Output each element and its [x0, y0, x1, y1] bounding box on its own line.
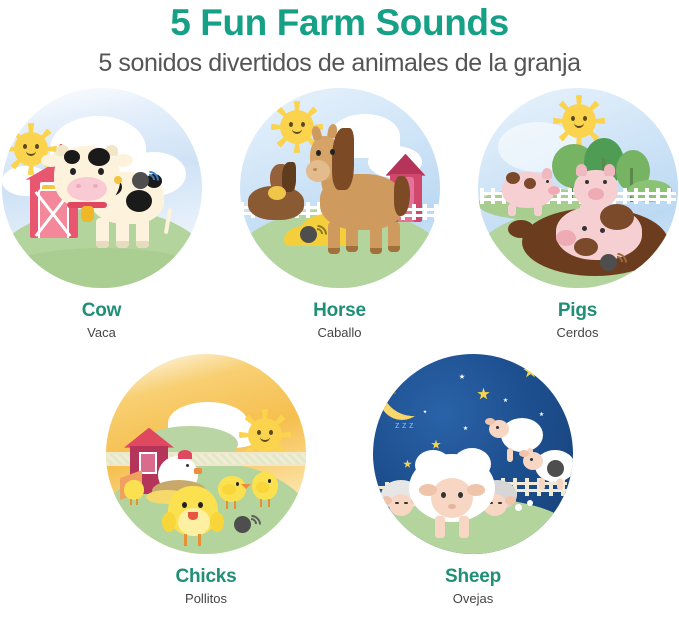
sound-button[interactable]: [300, 226, 317, 243]
chick-beak: [188, 512, 198, 520]
coop-roof: [124, 428, 174, 448]
sun-smile: [260, 437, 270, 442]
pig-spot: [600, 204, 634, 230]
hen-comb: [178, 450, 192, 459]
chick-leg: [136, 499, 138, 505]
sun-eye-left: [257, 430, 261, 435]
cow-nostril: [76, 184, 81, 188]
sheep-leg: [539, 478, 545, 490]
scene-label-en: Pigs: [478, 300, 678, 322]
horse-hoof: [388, 246, 400, 252]
scene-label-es: Caballo: [240, 325, 440, 340]
pig-ear: [604, 164, 615, 176]
cow-tail: [163, 207, 171, 233]
pigs-scene-wrap[interactable]: [478, 88, 678, 288]
sheep-eye: [530, 458, 533, 461]
chick: [252, 468, 284, 508]
cow-scene[interactable]: [2, 88, 202, 288]
horse-leg: [370, 222, 382, 254]
scene-grid: Cow Vaca: [0, 88, 679, 606]
scene-label-en: Sheep: [373, 566, 573, 588]
chick-eye: [268, 479, 271, 483]
pig-ear: [576, 164, 587, 176]
cow-eye-left: [70, 168, 76, 175]
chick-eye: [236, 482, 239, 486]
hen-beak: [194, 468, 202, 474]
scene-row-1: Cow Vaca: [0, 88, 679, 340]
sheep-face: [431, 478, 473, 518]
scene-label-en: Cow: [2, 300, 202, 322]
sun-icon: [562, 104, 596, 138]
sheep-ear: [485, 418, 495, 425]
sheep-nose: [448, 504, 456, 509]
pig-eye: [603, 180, 607, 184]
scene-label-es: Ovejas: [373, 591, 573, 606]
flower-icon: [114, 176, 122, 184]
horse-leg: [388, 222, 400, 252]
sun-eye-right: [583, 116, 587, 121]
sound-button[interactable]: [547, 460, 564, 477]
horse-hoof: [328, 248, 340, 254]
sheep-scene-wrap[interactable]: z z z: [373, 354, 573, 554]
sun-eye-right: [269, 430, 273, 435]
scene-cell-cow[interactable]: Cow Vaca: [2, 88, 202, 340]
chick-body: [124, 480, 144, 500]
horse-hoof: [370, 248, 382, 254]
sheep-eye: [496, 426, 499, 429]
horse-nostril: [313, 168, 317, 171]
cow-ear-left: [41, 154, 61, 167]
chick-eye: [198, 502, 203, 508]
cow-scene-wrap[interactable]: [2, 88, 202, 288]
chick-wing: [210, 512, 224, 532]
grass-shadow: [2, 248, 202, 288]
cow-snout: [67, 177, 107, 201]
scene-label-en: Chicks: [106, 566, 306, 588]
sheep: [409, 454, 501, 540]
foal-mane: [282, 162, 296, 192]
cow-leg: [116, 218, 129, 248]
cow-hoof: [136, 241, 149, 248]
horse-tail: [394, 176, 410, 216]
pig-eye: [585, 180, 589, 184]
sheep-eye: [458, 492, 463, 498]
pig-spot: [574, 238, 598, 256]
chick-leg: [268, 499, 270, 507]
pig-spot: [506, 172, 520, 184]
sheep-leg: [435, 516, 445, 538]
cow-hoof: [116, 241, 129, 248]
sound-button[interactable]: [600, 254, 617, 271]
page-title: 5 Fun Farm Sounds: [0, 4, 679, 43]
chick-leg: [260, 499, 262, 507]
scene-label-es: Pollitos: [106, 591, 306, 606]
lamb-eye: [395, 502, 399, 504]
chick-beak: [241, 484, 251, 489]
scene-cell-horse[interactable]: Horse Caballo: [240, 88, 440, 340]
chick-leg: [226, 501, 228, 509]
sun-eye-right: [35, 144, 39, 149]
horse-scene[interactable]: [240, 88, 440, 288]
pig-spot: [524, 178, 536, 189]
jumping-sheep: [523, 448, 573, 494]
scene-cell-sheep[interactable]: z z z: [373, 354, 573, 606]
sheep-wool: [415, 450, 451, 480]
lamb-eye: [404, 502, 408, 504]
sun-face: [562, 104, 596, 138]
cow-head-spot: [64, 150, 80, 164]
hen-eye: [186, 464, 189, 467]
pig-eye: [600, 228, 605, 233]
pig-leg: [508, 204, 516, 216]
sheep-ear: [519, 450, 529, 457]
lamb-ear: [505, 496, 516, 505]
sun-eye-left: [23, 144, 27, 149]
pig-snout: [588, 188, 604, 200]
cow-head-spot: [88, 148, 110, 166]
foal: [248, 166, 310, 224]
sheep-ear: [467, 484, 485, 496]
mud-puddle-splash: [508, 220, 534, 238]
chick-eye: [182, 502, 187, 508]
sheep-ear: [419, 484, 437, 496]
sun-smile: [574, 123, 584, 128]
cow-head: [54, 146, 120, 208]
cow-hoof: [96, 241, 109, 248]
chick-leg: [198, 534, 201, 546]
foal-muzzle: [268, 186, 286, 200]
scene-cell-pigs[interactable]: Pigs Cerdos: [478, 88, 678, 340]
cow-spot: [126, 190, 152, 212]
flower-icon: [515, 504, 522, 511]
header: 5 Fun Farm Sounds 5 sonidos divertidos d…: [0, 0, 679, 78]
sound-button[interactable]: [132, 172, 149, 189]
sheep-scene[interactable]: z z z: [373, 354, 573, 554]
scene-label-es: Vaca: [2, 325, 202, 340]
moon-eye: [389, 392, 396, 394]
sheep-wool: [501, 418, 543, 452]
lamb-ear: [381, 496, 392, 505]
sun-eye-right: [301, 122, 305, 127]
sun-eye-left: [571, 116, 575, 121]
sheep-eye: [441, 492, 446, 498]
horse-mane: [332, 128, 354, 190]
pigs-scene[interactable]: [478, 88, 678, 288]
chick-wing: [162, 512, 176, 532]
chick-leg: [130, 499, 132, 505]
horse-leg: [346, 222, 358, 252]
sun-eye-left: [289, 122, 293, 127]
chicks-scene[interactable]: [106, 354, 306, 554]
cow-leg: [136, 218, 149, 248]
horse-leg: [328, 222, 340, 254]
sun-smile: [26, 151, 36, 156]
sheep-leg: [507, 448, 513, 462]
cow-leg: [96, 218, 109, 248]
cow-bell-icon: [81, 206, 94, 222]
pig-snout: [556, 230, 576, 246]
scene-row-2: Chicks Pollitos z z z: [0, 354, 679, 606]
sheep-leg: [557, 478, 563, 490]
page-subtitle: 5 sonidos divertidos de animales de la g…: [0, 49, 679, 78]
horse-eye: [330, 149, 335, 155]
chick: [168, 486, 224, 548]
chick-wing: [256, 482, 269, 493]
chick-wing: [222, 484, 236, 495]
cow-eye-right: [98, 168, 104, 175]
cow-nostril: [93, 184, 98, 188]
sun-face: [248, 418, 282, 452]
horse-hoof: [346, 246, 358, 252]
scene-label-es: Cerdos: [478, 325, 678, 340]
flower-icon: [527, 500, 533, 506]
scene-cell-chicks[interactable]: Chicks Pollitos: [106, 354, 306, 606]
poster-page: 5 Fun Farm Sounds 5 sonidos divertidos d…: [0, 0, 679, 623]
sheep-wool: [453, 448, 491, 480]
sun-icon: [248, 418, 282, 452]
pig-eye: [582, 226, 587, 231]
pig-ear: [542, 168, 552, 179]
horse-eye: [316, 150, 321, 156]
sheep-leg: [459, 516, 469, 538]
horse-scene-wrap[interactable]: [240, 88, 440, 288]
horse-muzzle: [306, 160, 330, 182]
chick: [124, 480, 146, 506]
sun-smile: [292, 129, 302, 134]
sound-button[interactable]: [234, 516, 251, 533]
scene-label-en: Horse: [240, 300, 440, 322]
sleep-zzz-icon: z z z: [395, 420, 414, 430]
chicks-scene-wrap[interactable]: [106, 354, 306, 554]
pig-eye: [546, 180, 549, 183]
chick-leg: [234, 501, 236, 509]
pig-snout: [548, 186, 560, 195]
pig-leg: [534, 204, 542, 216]
chick-leg: [184, 534, 187, 546]
